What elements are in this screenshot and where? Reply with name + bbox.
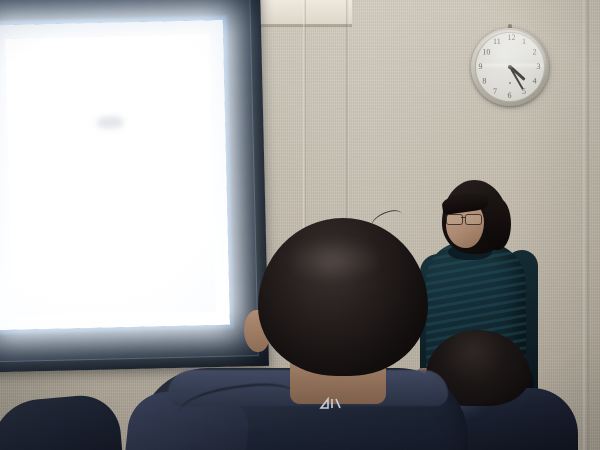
clock-center-dot [509, 82, 511, 84]
wall-soffit-edge [252, 24, 352, 27]
clock-face: 121234567891011 [475, 32, 545, 102]
clock-glass-sheen [477, 64, 543, 68]
presenter-head [442, 180, 508, 254]
wall-soffit [252, 0, 352, 26]
viewer-center-hair-highlight [286, 238, 382, 282]
clock-numeral: 11 [493, 37, 501, 46]
viewer-center-head [258, 218, 428, 376]
clock-numeral: 4 [533, 77, 537, 86]
clock-numeral: 10 [482, 48, 490, 57]
glasses-icon [446, 214, 486, 224]
clock-numeral: 5 [522, 87, 526, 96]
wall-panel-seam [583, 0, 589, 450]
glasses-right-lens [465, 214, 482, 225]
clock-numeral: 9 [479, 62, 483, 71]
clock-numeral: 8 [482, 77, 486, 86]
slide-faint-mark [97, 117, 123, 130]
clock-numeral: 1 [522, 37, 526, 46]
presenter-hair-side [485, 198, 511, 250]
clock-numeral: 6 [508, 91, 512, 100]
glasses-left-lens [446, 214, 463, 225]
clock-numeral: 3 [537, 62, 541, 71]
photo-scene: 121234567891011 [0, 0, 600, 450]
jacket-logo-icon [318, 396, 350, 412]
clock-numeral: 2 [533, 48, 537, 57]
bar-group [15, 299, 38, 300]
clock-numeral: 7 [493, 87, 497, 96]
bar-group [56, 298, 83, 299]
clock-numeral: 12 [508, 33, 516, 42]
viewer-center [148, 218, 448, 450]
wall-clock: 121234567891011 [471, 28, 549, 106]
